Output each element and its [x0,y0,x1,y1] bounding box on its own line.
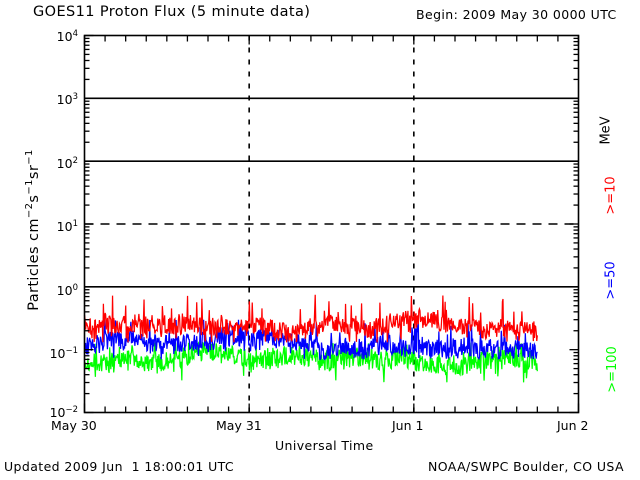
plot-area [0,0,640,480]
data-traces [85,295,538,383]
chart-canvas: GOES11 Proton Flux (5 minute data) Begin… [0,0,640,480]
